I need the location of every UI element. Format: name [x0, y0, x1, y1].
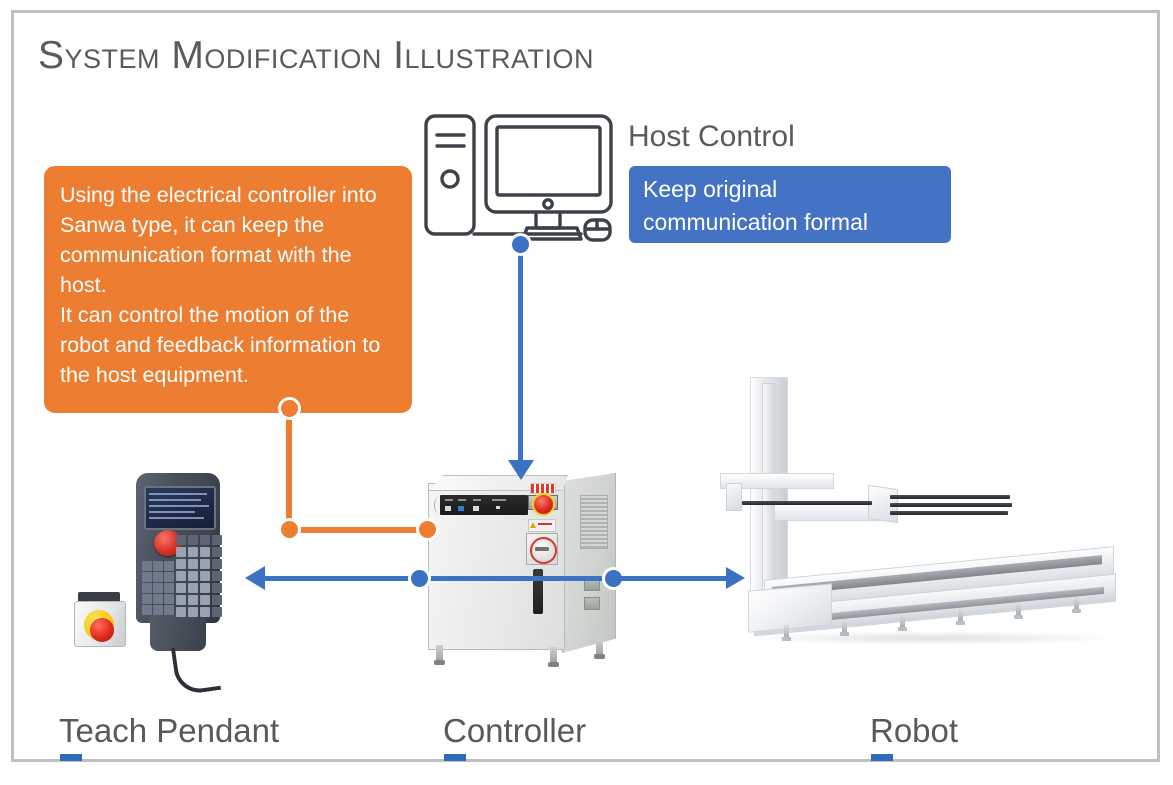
label-controller: Controller [443, 712, 586, 750]
pendant-function-keys [142, 561, 174, 615]
label-robot: Robot [870, 712, 958, 750]
controller-rotary-switch [526, 533, 558, 565]
pendant-keypad [176, 535, 222, 617]
robot-base-carriage [748, 583, 832, 632]
orange-callout-note: Using the electrical controller into San… [44, 166, 412, 413]
label-underline-bar [871, 754, 893, 761]
label-controller-text: Controller [443, 712, 586, 749]
page-title: System Modification Illustration [38, 34, 594, 78]
gantry-robot [712, 375, 1142, 675]
emergency-stop-box [74, 592, 124, 650]
label-teach-pendant-text: Teach Pendant [59, 712, 279, 749]
pendant-lcd-screen [144, 486, 216, 530]
desktop-computer-icon [423, 112, 623, 252]
controller-emergency-stop [532, 493, 555, 516]
emergency-stop-button [90, 618, 114, 642]
controller-caution-label [528, 519, 556, 532]
blue-callout-note: Keep original communication formal [629, 166, 951, 243]
slide-canvas: System Modification Illustration Using t… [0, 0, 1173, 785]
label-teach-pendant: Teach Pendant [59, 712, 279, 750]
pendant-cable [171, 642, 221, 696]
host-control-label: Host Control [628, 120, 795, 154]
label-underline-bar [60, 754, 82, 761]
label-robot-text: Robot [870, 712, 958, 749]
controller-vent-grille [580, 495, 608, 549]
teach-pendant-device [128, 473, 238, 688]
controller-front-panel [440, 495, 528, 515]
label-underline-bar [444, 754, 466, 761]
